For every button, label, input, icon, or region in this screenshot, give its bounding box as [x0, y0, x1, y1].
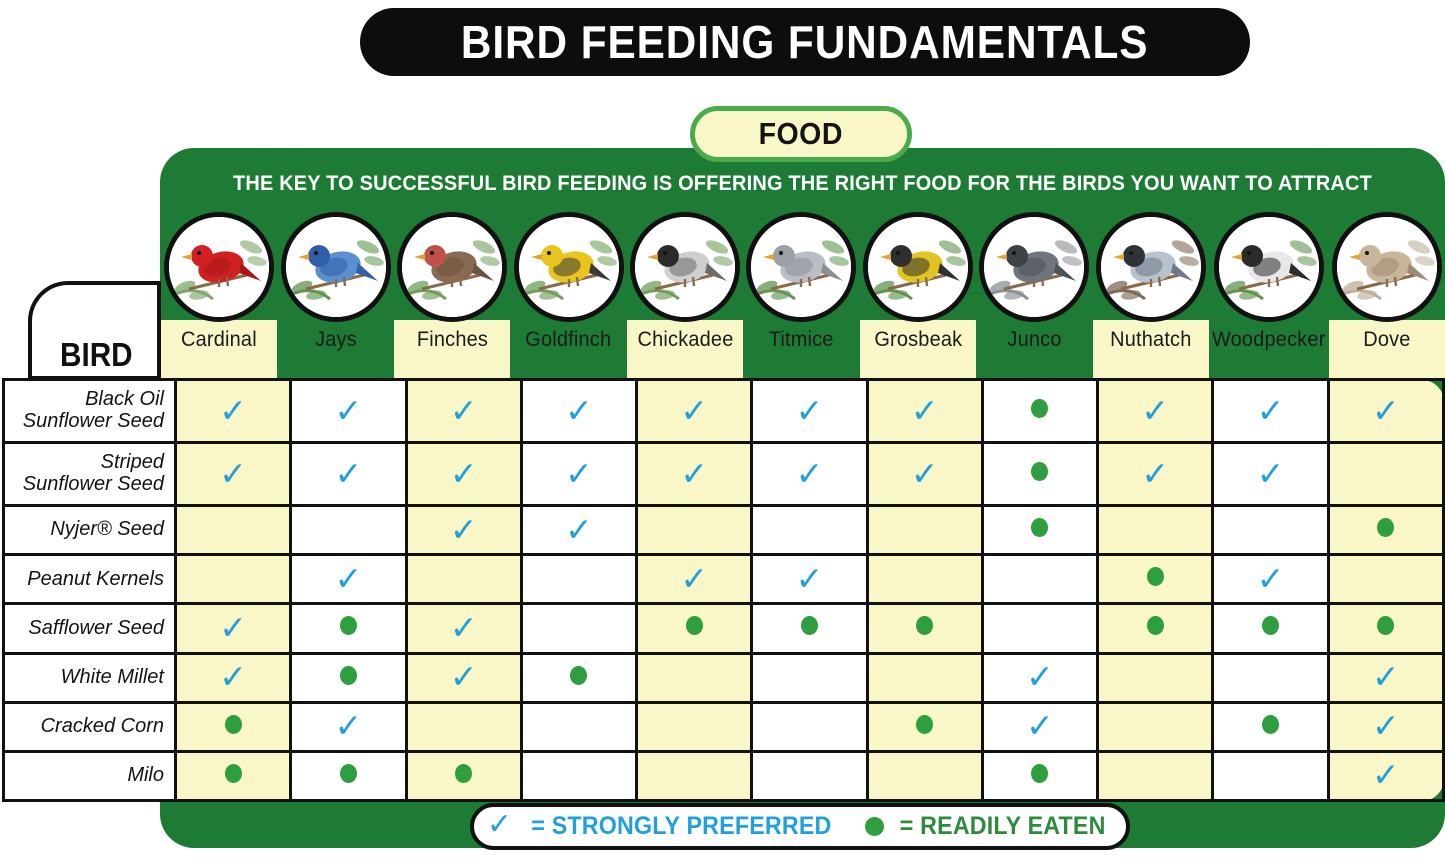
bird-column-header-chickadee: Chickadee	[627, 212, 743, 380]
bird-column-header-cardinal: Cardinal	[161, 212, 277, 380]
green-dot-icon	[1031, 399, 1048, 418]
matrix-cell: ✓	[406, 380, 521, 443]
matrix-cell	[982, 555, 1097, 604]
matrix-cell: ✓	[291, 380, 406, 443]
blue-check-icon: ✓	[680, 394, 708, 427]
matrix-cell	[982, 380, 1097, 443]
bird-column-header-dove: Dove	[1329, 212, 1445, 380]
blue-check-icon: ✓	[1372, 660, 1400, 693]
matrix-cell	[867, 653, 982, 702]
blue-check-icon: ✓	[1141, 457, 1169, 490]
bird-name-label: Chickadee	[637, 328, 733, 352]
table-row: Safflower Seed✓✓	[4, 604, 1444, 653]
matrix-cell	[637, 702, 752, 751]
matrix-cell: ✓	[291, 702, 406, 751]
blue-check-icon: ✓	[565, 394, 593, 427]
matrix-cell	[637, 506, 752, 555]
titmouse-portrait-icon	[746, 212, 856, 322]
bird-column-header-junco: Junco	[976, 212, 1092, 380]
junco-portrait-icon	[979, 212, 1089, 322]
legend: ✓ = STRONGLY PREFERRED = READILY EATEN	[470, 803, 1130, 850]
matrix-cell	[521, 702, 636, 751]
matrix-cell	[752, 653, 867, 702]
matrix-cell: ✓	[176, 380, 291, 443]
green-dot-icon	[686, 616, 703, 635]
bird-column-header-titmice: Titmice	[743, 212, 859, 380]
green-dot-icon	[1377, 518, 1394, 537]
matrix-cell	[1328, 555, 1443, 604]
legend-dot-label: = READILY EATEN	[900, 812, 1106, 841]
matrix-cell	[752, 506, 867, 555]
green-dot-icon	[1147, 567, 1164, 586]
matrix-cell	[1328, 443, 1443, 506]
legend-check-label: = STRONGLY PREFERRED	[531, 812, 831, 841]
matrix-cell	[521, 653, 636, 702]
matrix-cell	[1098, 702, 1213, 751]
blue-check-icon: ✓	[565, 513, 593, 546]
table-row: Nyjer® Seed✓✓	[4, 506, 1444, 555]
blue-check-icon: ✓	[450, 660, 478, 693]
blue-check-icon: ✓	[1026, 660, 1054, 693]
chickadee-portrait-icon	[630, 212, 740, 322]
grosbeak-portrait-icon	[863, 212, 973, 322]
green-dot-icon	[340, 666, 357, 685]
blue-check-icon: ✓	[219, 660, 247, 693]
matrix-cell: ✓	[982, 702, 1097, 751]
green-dot-icon	[1031, 764, 1048, 783]
feeding-matrix: Black OilSunflower Seed✓✓✓✓✓✓✓✓✓✓Striped…	[2, 378, 1445, 802]
table-row: White Millet✓✓✓✓	[4, 653, 1444, 702]
bird-column-header-finches: Finches	[394, 212, 510, 380]
matrix-cell	[982, 506, 1097, 555]
matrix-cell	[1213, 653, 1328, 702]
matrix-cell: ✓	[1328, 653, 1443, 702]
bird-name-label: Titmice	[769, 328, 834, 352]
table-row: StripedSunflower Seed✓✓✓✓✓✓✓✓✓	[4, 443, 1444, 506]
blue-check-icon: ✓	[335, 562, 363, 595]
matrix-cell: ✓	[867, 443, 982, 506]
matrix-cell	[867, 506, 982, 555]
matrix-cell	[982, 443, 1097, 506]
page-title: BIRD FEEDING FUNDAMENTALS	[461, 15, 1149, 69]
food-row-label: Milo	[4, 751, 176, 800]
matrix-cell	[1213, 506, 1328, 555]
blue-check-icon: ✓	[219, 457, 247, 490]
green-dot-icon	[801, 616, 818, 635]
blue-check-icon: ✓	[1372, 758, 1400, 791]
blue-check-icon: ✓	[450, 394, 478, 427]
food-row-label: Peanut Kernels	[4, 555, 176, 604]
food-row-label: StripedSunflower Seed	[4, 443, 176, 506]
blue-check-icon: ✓	[219, 611, 247, 644]
matrix-cell: ✓	[637, 380, 752, 443]
bird-name-label: Dove	[1363, 328, 1410, 352]
green-dot-icon	[916, 715, 933, 734]
blue-check-icon: ✓	[450, 457, 478, 490]
matrix-cell: ✓	[752, 555, 867, 604]
blue-check-icon: ✓	[911, 457, 939, 490]
matrix-cell	[637, 604, 752, 653]
matrix-cell: ✓	[176, 443, 291, 506]
blue-jay-portrait-icon	[281, 212, 391, 322]
matrix-cell	[1098, 506, 1213, 555]
food-row-label: Cracked Corn	[4, 702, 176, 751]
green-dot-icon	[455, 764, 472, 783]
matrix-cell	[1098, 653, 1213, 702]
matrix-cell	[867, 702, 982, 751]
food-badge: FOOD	[690, 106, 912, 162]
green-dot-icon	[225, 764, 242, 783]
blue-check-icon: ✓	[335, 457, 363, 490]
matrix-cell: ✓	[406, 443, 521, 506]
matrix-cell: ✓	[1328, 751, 1443, 800]
matrix-cell	[406, 555, 521, 604]
blue-check-icon: ✓	[335, 709, 363, 742]
green-dot-icon	[1377, 616, 1394, 635]
woodpecker-portrait-icon	[1214, 212, 1324, 322]
blue-check-icon: ✓	[335, 394, 363, 427]
table-row: Peanut Kernels✓✓✓✓	[4, 555, 1444, 604]
nuthatch-portrait-icon	[1096, 212, 1206, 322]
green-dot-icon	[1031, 462, 1048, 481]
bird-name-label: Grosbeak	[874, 328, 962, 352]
legend-check-icon: ✓	[487, 810, 512, 840]
matrix-cell	[291, 653, 406, 702]
green-dot-icon	[570, 666, 587, 685]
matrix-cell: ✓	[406, 604, 521, 653]
matrix-cell	[1213, 604, 1328, 653]
matrix-cell: ✓	[1098, 443, 1213, 506]
matrix-cell: ✓	[1328, 380, 1443, 443]
food-row-label: Nyjer® Seed	[4, 506, 176, 555]
cardinal-portrait-icon	[164, 212, 274, 322]
bird-name-label: Junco	[1007, 328, 1061, 352]
matrix-cell	[752, 702, 867, 751]
matrix-cell	[406, 751, 521, 800]
matrix-cell	[982, 751, 1097, 800]
matrix-cell: ✓	[291, 443, 406, 506]
matrix-cell	[521, 555, 636, 604]
matrix-cell	[637, 653, 752, 702]
legend-dot-icon	[865, 817, 884, 836]
blue-check-icon: ✓	[1141, 394, 1169, 427]
bird-column-header-goldfinch: Goldfinch	[510, 212, 626, 380]
green-dot-icon	[1262, 715, 1279, 734]
matrix-cell	[982, 604, 1097, 653]
bird-axis-corner: BIRD	[28, 281, 161, 380]
matrix-cell	[176, 555, 291, 604]
blue-check-icon: ✓	[1372, 394, 1400, 427]
blue-check-icon: ✓	[911, 394, 939, 427]
green-dot-icon	[225, 715, 242, 734]
table-row: Milo✓	[4, 751, 1444, 800]
food-row-label: Black OilSunflower Seed	[4, 380, 176, 443]
matrix-cell: ✓	[176, 653, 291, 702]
matrix-cell: ✓	[176, 604, 291, 653]
goldfinch-portrait-icon	[514, 212, 624, 322]
matrix-cell: ✓	[752, 443, 867, 506]
matrix-cell	[637, 751, 752, 800]
matrix-cell	[1213, 751, 1328, 800]
bird-name-label: Woodpecker	[1212, 328, 1326, 352]
house-finch-portrait-icon	[397, 212, 507, 322]
bird-name-label: Nuthatch	[1110, 328, 1191, 352]
green-dot-icon	[1147, 616, 1164, 635]
matrix-cell	[406, 702, 521, 751]
bird-column-header-jays: Jays	[277, 212, 393, 380]
blue-check-icon: ✓	[1257, 394, 1285, 427]
blue-check-icon: ✓	[680, 457, 708, 490]
food-row-label: White Millet	[4, 653, 176, 702]
blue-check-icon: ✓	[219, 394, 247, 427]
green-dot-icon	[916, 616, 933, 635]
matrix-cell	[867, 555, 982, 604]
matrix-cell	[1328, 506, 1443, 555]
table-row: Cracked Corn✓✓✓	[4, 702, 1444, 751]
matrix-cell	[291, 506, 406, 555]
matrix-cell	[1098, 555, 1213, 604]
matrix-cell: ✓	[1213, 380, 1328, 443]
matrix-cell: ✓	[521, 443, 636, 506]
matrix-cell: ✓	[752, 380, 867, 443]
matrix-cell	[521, 604, 636, 653]
bird-name-label: Cardinal	[181, 328, 257, 352]
matrix-cell: ✓	[982, 653, 1097, 702]
food-badge-label: FOOD	[759, 116, 843, 152]
matrix-cell	[752, 604, 867, 653]
blue-check-icon: ✓	[1257, 457, 1285, 490]
matrix-cell: ✓	[1213, 555, 1328, 604]
bird-column-header-woodpecker: Woodpecker	[1209, 212, 1329, 380]
bird-name-label: Goldfinch	[526, 328, 612, 352]
panel-subtitle: THE KEY TO SUCCESSFUL BIRD FEEDING IS OF…	[192, 172, 1413, 196]
bird-name-label: Finches	[417, 328, 488, 352]
matrix-cell	[176, 751, 291, 800]
blue-check-icon: ✓	[1026, 709, 1054, 742]
matrix-cell	[867, 751, 982, 800]
feeding-matrix-table: Black OilSunflower Seed✓✓✓✓✓✓✓✓✓✓Striped…	[2, 378, 1445, 802]
bird-name-label: Jays	[315, 328, 357, 352]
blue-check-icon: ✓	[450, 611, 478, 644]
matrix-cell	[176, 702, 291, 751]
dove-portrait-icon	[1332, 212, 1442, 322]
matrix-cell	[1328, 604, 1443, 653]
bird-column-header-grosbeak: Grosbeak	[860, 212, 976, 380]
matrix-cell: ✓	[867, 380, 982, 443]
matrix-cell	[867, 604, 982, 653]
bird-header-row: Cardinal Jays	[161, 212, 1445, 380]
matrix-cell: ✓	[1213, 443, 1328, 506]
corner-edge-right	[157, 281, 161, 380]
matrix-cell: ✓	[637, 443, 752, 506]
blue-check-icon: ✓	[1257, 562, 1285, 595]
green-dot-icon	[1031, 518, 1048, 537]
bird-axis-label: BIRD	[60, 336, 133, 374]
blue-check-icon: ✓	[796, 394, 824, 427]
blue-check-icon: ✓	[680, 562, 708, 595]
blue-check-icon: ✓	[796, 562, 824, 595]
bird-column-header-nuthatch: Nuthatch	[1093, 212, 1209, 380]
blue-check-icon: ✓	[796, 457, 824, 490]
matrix-cell	[752, 751, 867, 800]
matrix-cell: ✓	[406, 653, 521, 702]
matrix-cell	[521, 751, 636, 800]
matrix-cell: ✓	[521, 380, 636, 443]
green-dot-icon	[340, 764, 357, 783]
matrix-cell	[176, 506, 291, 555]
page-title-bar: BIRD FEEDING FUNDAMENTALS	[360, 8, 1250, 76]
table-row: Black OilSunflower Seed✓✓✓✓✓✓✓✓✓✓	[4, 380, 1444, 443]
matrix-cell: ✓	[521, 506, 636, 555]
green-dot-icon	[340, 616, 357, 635]
blue-check-icon: ✓	[565, 457, 593, 490]
matrix-cell	[1098, 751, 1213, 800]
matrix-cell	[1098, 604, 1213, 653]
matrix-cell	[1213, 702, 1328, 751]
green-dot-icon	[1262, 616, 1279, 635]
matrix-cell: ✓	[291, 555, 406, 604]
blue-check-icon: ✓	[1372, 709, 1400, 742]
matrix-cell: ✓	[1098, 380, 1213, 443]
matrix-cell: ✓	[406, 506, 521, 555]
matrix-cell	[291, 751, 406, 800]
matrix-cell: ✓	[1328, 702, 1443, 751]
blue-check-icon: ✓	[450, 513, 478, 546]
matrix-cell	[291, 604, 406, 653]
food-row-label: Safflower Seed	[4, 604, 176, 653]
matrix-cell: ✓	[637, 555, 752, 604]
